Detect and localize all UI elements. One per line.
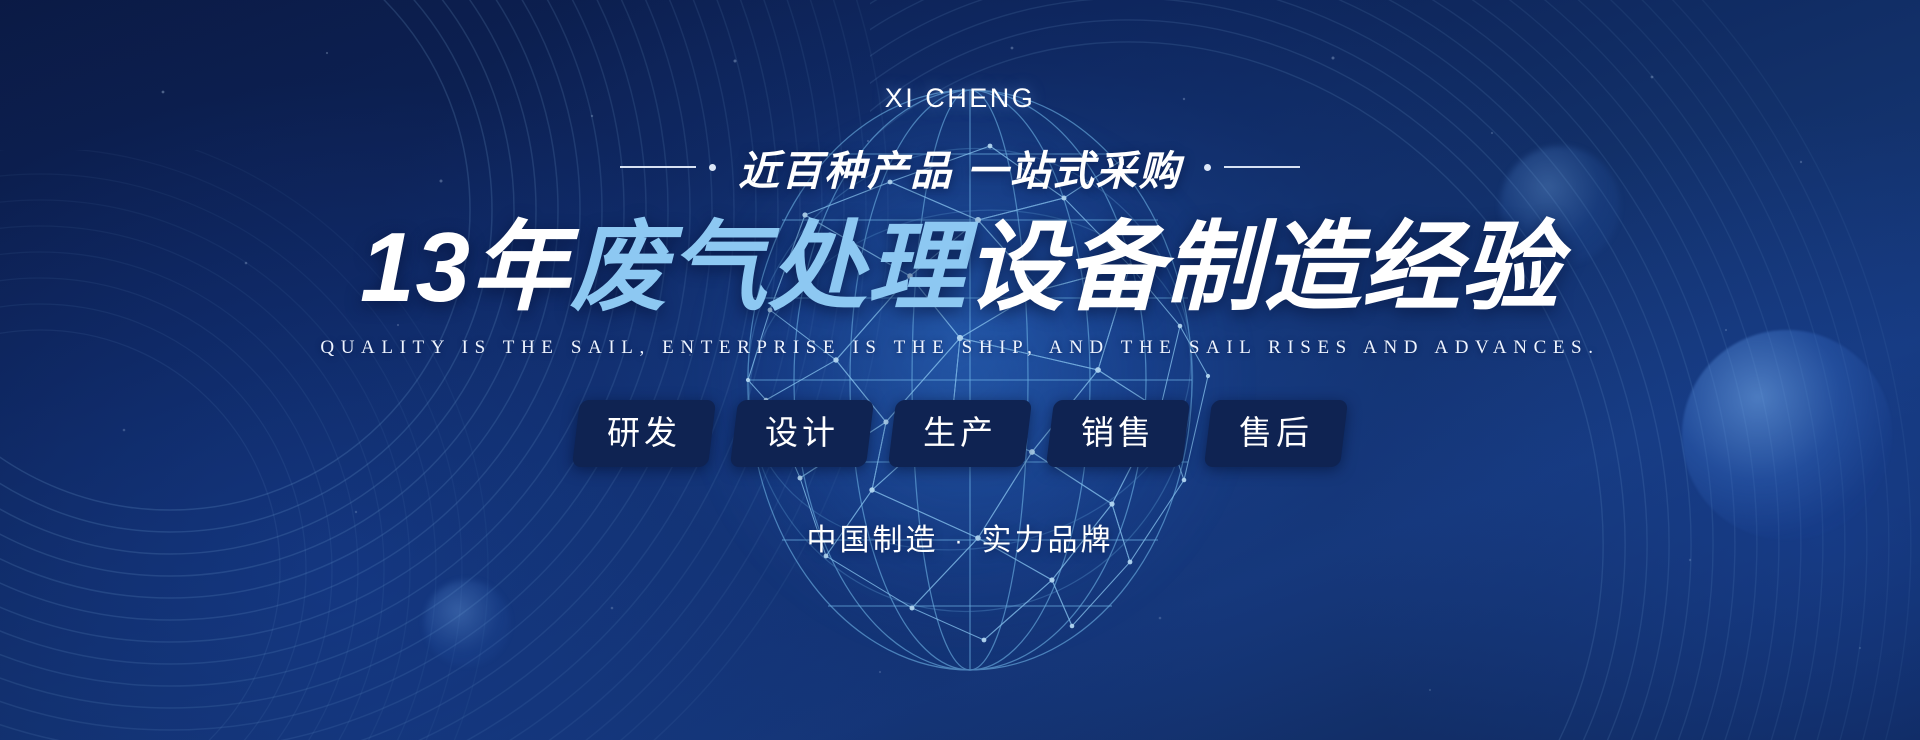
deco-line-left-icon xyxy=(620,166,696,168)
headline-highlight: 废气处理 xyxy=(570,212,966,322)
footer-slogan-left: 中国制造 xyxy=(807,524,939,557)
subtitle-right-decoration xyxy=(1204,164,1300,171)
main-headline: 13年废气处理设备制造经验 xyxy=(360,213,1560,323)
service-tag-sales-label: 销售 xyxy=(1081,413,1155,454)
footer-slogan: 中国制造·实力品牌 xyxy=(807,515,1114,559)
headline-tail: 设备制造经验 xyxy=(966,212,1560,322)
headline-years: 13年 xyxy=(360,212,570,322)
service-tag-production[interactable]: 生产 xyxy=(888,400,1032,467)
deco-dot-right-icon xyxy=(1204,164,1211,171)
hero-banner: XI CHENG 近百种产品 一站式采购 13年废气处理设备制造经验 QUALI… xyxy=(0,0,1920,740)
footer-separator-icon: · xyxy=(955,528,966,555)
service-tag-rd-label: 研发 xyxy=(607,413,681,454)
subtitle-row: 近百种产品 一站式采购 xyxy=(620,137,1299,197)
service-tag-row: 研发 设计 生产 销售 售后 xyxy=(576,400,1344,467)
deco-dot-left-icon xyxy=(709,164,716,171)
english-tagline: QUALITY IS THE SAIL, ENTERPRISE IS THE S… xyxy=(320,337,1599,359)
service-tag-design[interactable]: 设计 xyxy=(730,400,874,467)
footer-slogan-right: 实力品牌 xyxy=(982,524,1114,557)
service-tag-production-label: 生产 xyxy=(923,413,997,454)
brand-latin-name: XI CHENG xyxy=(885,83,1036,114)
deco-line-right-icon xyxy=(1224,166,1300,168)
service-tag-design-label: 设计 xyxy=(765,413,839,454)
subtitle-left-decoration xyxy=(620,164,716,171)
service-tag-aftersales-label: 售后 xyxy=(1239,413,1313,454)
banner-content: XI CHENG 近百种产品 一站式采购 13年废气处理设备制造经验 QUALI… xyxy=(0,0,1920,740)
service-tag-rd[interactable]: 研发 xyxy=(572,400,716,467)
service-tag-sales[interactable]: 销售 xyxy=(1046,400,1190,467)
subtitle-text: 近百种产品 一站式采购 xyxy=(738,137,1181,197)
service-tag-aftersales[interactable]: 售后 xyxy=(1204,400,1348,467)
